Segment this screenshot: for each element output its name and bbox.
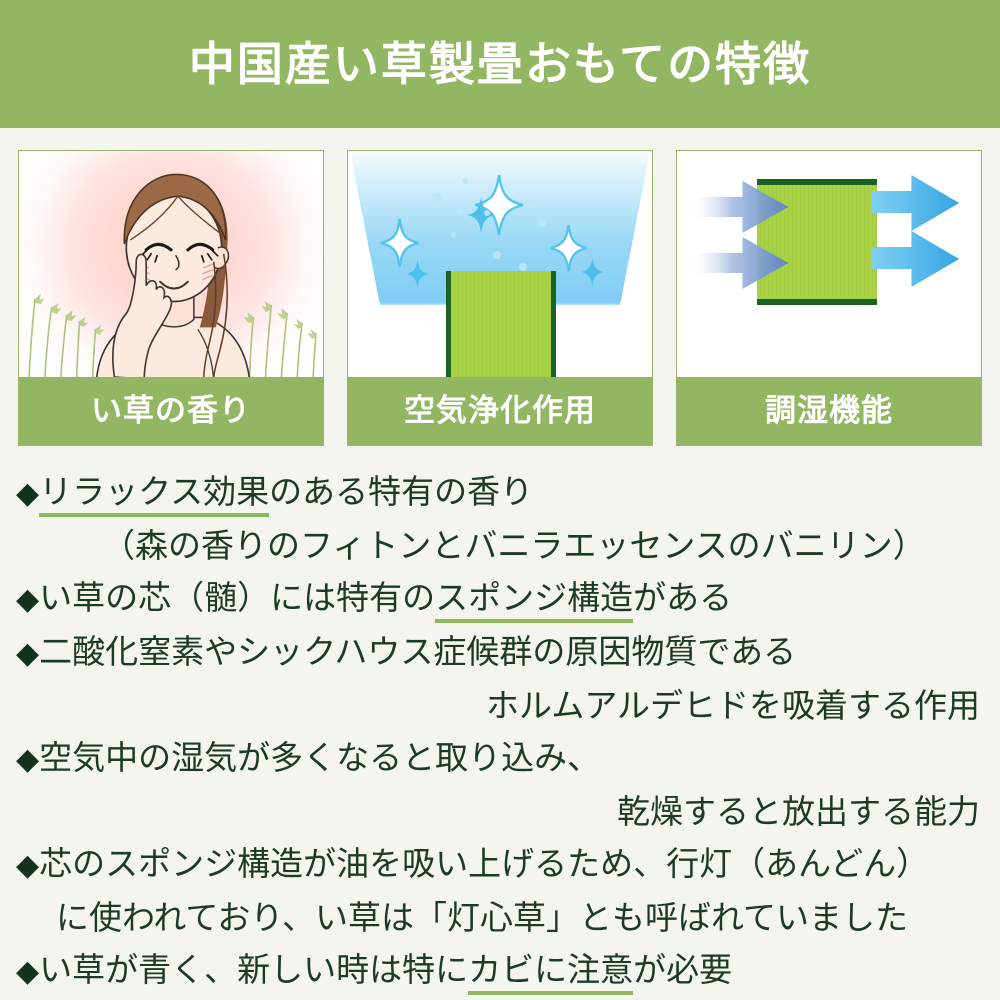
aroma-illustration bbox=[19, 151, 323, 379]
feature-list-item: ◆リラックス効果のある特有の香り bbox=[16, 466, 984, 520]
bullet-diamond-icon: ◆ bbox=[16, 636, 39, 671]
moisture-arrows-icon bbox=[677, 151, 981, 379]
card-label-humidity-control: 調湿機能 bbox=[677, 377, 981, 445]
humidity-control-illustration bbox=[677, 151, 981, 379]
feature-list-item: に使われており、い草は「灯心草」とも呼ばれていました bbox=[16, 892, 984, 944]
feature-list-item: ◆空気中の湿気が多くなると取り込み、 bbox=[16, 732, 984, 786]
feature-text: のある特有の香り bbox=[269, 472, 533, 511]
bullet-diamond-icon: ◆ bbox=[16, 848, 39, 883]
feature-list-item: ◆芯のスポンジ構造が油を吸い上げるため、行灯（あんどん） bbox=[16, 838, 984, 892]
feature-list-item: ホルムアルデヒドを吸着する作用 bbox=[16, 680, 984, 732]
woman-figure-icon bbox=[19, 151, 323, 379]
page-header: 中国産い草製畳おもての特徴 bbox=[0, 0, 1000, 128]
feature-text-highlight: カビに注意 bbox=[468, 950, 633, 995]
feature-card-humidity-control: 調湿機能 bbox=[676, 150, 982, 446]
bullet-diamond-icon: ◆ bbox=[16, 582, 39, 617]
card-label-text: 調湿機能 bbox=[765, 396, 893, 427]
air-purification-illustration bbox=[348, 151, 652, 379]
feature-text: がある bbox=[633, 578, 732, 617]
infographic-page: 中国産い草製畳おもての特徴 bbox=[0, 0, 1000, 1000]
bullet-diamond-icon: ◆ bbox=[16, 742, 39, 777]
feature-list-item: 乾燥すると放出する能力 bbox=[16, 786, 984, 838]
feature-card-air-purification: 空気浄化作用 bbox=[347, 150, 653, 446]
feature-text: （森の香りのフィトンとバニラエッセンスのバニリン） bbox=[102, 526, 926, 565]
feature-text: に使われており、い草は「灯心草」とも呼ばれていました bbox=[56, 898, 908, 937]
bullet-diamond-icon: ◆ bbox=[16, 476, 39, 511]
feature-list-item: ◆い草の芯（髄）には特有のスポンジ構造がある bbox=[16, 572, 984, 626]
feature-text: 乾燥すると放出する能力 bbox=[617, 792, 980, 831]
feature-card-row: い草の香り bbox=[18, 150, 982, 446]
feature-text-highlight: スポンジ構造 bbox=[435, 578, 633, 623]
card-label-aroma: い草の香り bbox=[19, 377, 323, 445]
card-label-text: い草の香り bbox=[91, 396, 251, 427]
feature-text: 空気中の湿気が多くなると取り込み、 bbox=[39, 738, 600, 777]
feature-list-item: ◆二酸化窒素やシックハウス症候群の原因物質である bbox=[16, 626, 984, 680]
feature-list-item: （森の香りのフィトンとバニラエッセンスのバニリン） bbox=[16, 520, 984, 572]
feature-list-item: ◆い草が青く、新しい時は特にカビに注意が必要 bbox=[16, 944, 984, 998]
feature-text: が必要 bbox=[633, 950, 732, 989]
feature-card-aroma: い草の香り bbox=[18, 150, 324, 446]
bullet-diamond-icon: ◆ bbox=[16, 954, 39, 989]
feature-text: い草の芯（髄）には特有の bbox=[39, 578, 435, 617]
card-label-text: 空気浄化作用 bbox=[404, 396, 596, 427]
feature-text: 二酸化窒素やシックハウス症候群の原因物質である bbox=[39, 632, 796, 671]
feature-text: ホルムアルデヒドを吸着する作用 bbox=[486, 686, 980, 725]
sparkles-icon bbox=[348, 151, 652, 379]
feature-text-highlight: リラックス効果 bbox=[39, 472, 269, 517]
feature-list: ◆リラックス効果のある特有の香り（森の香りのフィトンとバニラエッセンスのバニリン… bbox=[16, 466, 984, 998]
page-title: 中国産い草製畳おもての特徴 bbox=[189, 41, 811, 87]
card-label-air-purification: 空気浄化作用 bbox=[348, 377, 652, 445]
feature-text: い草が青く、新しい時は特に bbox=[39, 950, 468, 989]
feature-text: 芯のスポンジ構造が油を吸い上げるため、行灯（あんどん） bbox=[39, 844, 929, 883]
